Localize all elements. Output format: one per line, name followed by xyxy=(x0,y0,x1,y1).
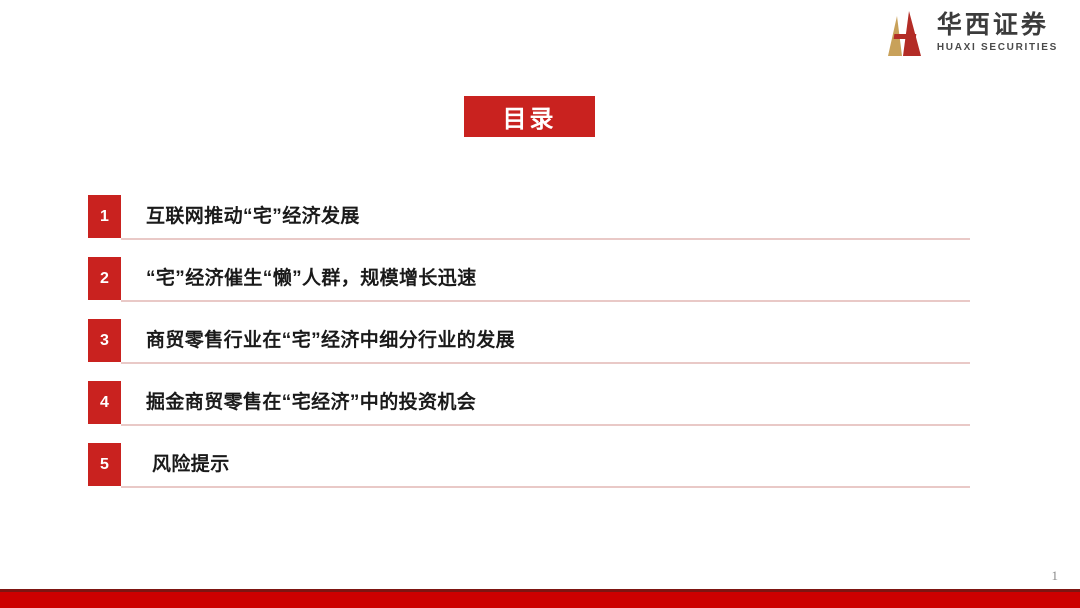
toc-divider xyxy=(121,486,970,488)
huaxi-h-logo-icon xyxy=(888,10,928,56)
brand-logo: 华西证券 HUAXI SECURITIES xyxy=(888,10,1058,56)
page-number: 1 xyxy=(1052,568,1059,584)
toc-number-badge: 3 xyxy=(88,319,121,362)
toc-item-1[interactable]: 1 互联网推动“宅”经济发展 xyxy=(88,195,970,257)
toc-item-label: “宅”经济催生“懒”人群，规模增长迅速 xyxy=(146,257,477,300)
toc-item-label: 风险提示 xyxy=(152,443,230,486)
toc-item-label: 掘金商贸零售在“宅经济”中的投资机会 xyxy=(146,381,476,424)
toc-divider xyxy=(121,238,970,240)
toc-number-badge: 5 xyxy=(88,443,121,486)
toc-divider xyxy=(121,300,970,302)
toc-item-5[interactable]: 5 风险提示 xyxy=(88,443,970,505)
brand-text: 华西证券 HUAXI SECURITIES xyxy=(937,13,1058,53)
toc-number-badge: 4 xyxy=(88,381,121,424)
brand-name-en: HUAXI SECURITIES xyxy=(937,43,1058,53)
toc-item-4[interactable]: 4 掘金商贸零售在“宅经济”中的投资机会 xyxy=(88,381,970,443)
toc-item-label: 商贸零售行业在“宅”经济中细分行业的发展 xyxy=(146,319,515,362)
toc-number-badge: 2 xyxy=(88,257,121,300)
toc-divider xyxy=(121,362,970,364)
toc-item-label: 互联网推动“宅”经济发展 xyxy=(146,195,360,238)
logo-right-stroke xyxy=(903,11,921,56)
toc-item-3[interactable]: 3 商贸零售行业在“宅”经济中细分行业的发展 xyxy=(88,319,970,381)
footer-bar xyxy=(0,589,1080,608)
toc-item-2[interactable]: 2 “宅”经济催生“懒”人群，规模增长迅速 xyxy=(88,257,970,319)
page-title: 目录 xyxy=(503,99,557,134)
table-of-contents: 1 互联网推动“宅”经济发展 2 “宅”经济催生“懒”人群，规模增长迅速 3 商… xyxy=(88,195,970,505)
toc-number-badge: 1 xyxy=(88,195,121,238)
brand-name-cn: 华西证券 xyxy=(937,13,1058,38)
page-title-banner: 目录 xyxy=(464,96,595,137)
toc-divider xyxy=(121,424,970,426)
